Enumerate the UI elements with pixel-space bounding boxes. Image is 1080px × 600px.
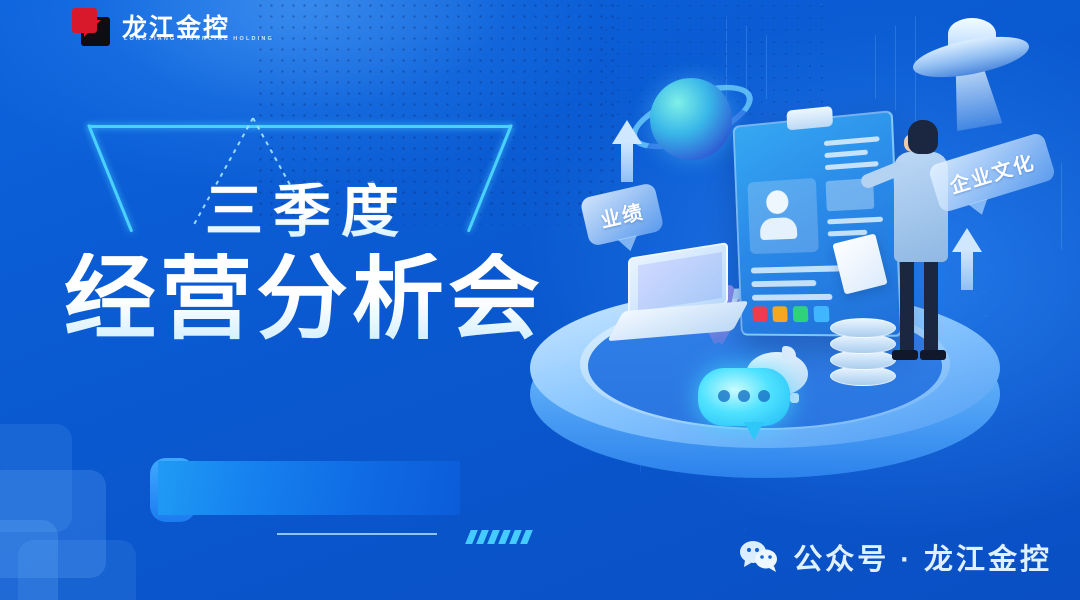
illustration: 业绩 企业文化	[500, 0, 1080, 600]
screen-clip	[786, 106, 832, 130]
chat-dot	[758, 390, 770, 402]
status-chip	[793, 306, 809, 322]
logo-name-en: LONGJIANG FINANCIAL HOLDING	[124, 36, 274, 42]
content-bar	[824, 150, 868, 159]
arrow-head	[612, 120, 642, 144]
avatar-body	[760, 217, 798, 240]
avatar	[766, 190, 789, 215]
banner-stage: 三季度 经营分析会 龙江金控 LONGJIANG FINANCIAL HOLDI…	[0, 0, 1080, 600]
status-chip	[813, 306, 829, 322]
status-chip	[772, 306, 787, 322]
chat-dot	[718, 390, 730, 402]
content-bar	[825, 161, 879, 170]
arrow-up-icon	[612, 120, 642, 182]
content-bar	[752, 294, 833, 301]
person-icon	[878, 120, 970, 360]
arrow-shaft	[621, 142, 633, 182]
person-shoe	[920, 350, 946, 360]
content-bar	[828, 230, 868, 237]
logo-triangle	[84, 20, 101, 37]
content-bar	[751, 280, 816, 287]
chat-tail	[744, 422, 764, 440]
laptop-icon	[618, 250, 738, 342]
person-leg	[900, 258, 914, 356]
logo-underline	[277, 533, 437, 535]
content-bar	[824, 136, 880, 146]
title-line-1: 三季度	[205, 183, 409, 241]
chat-dot	[738, 390, 750, 402]
title-line-2: 经营分析会	[64, 253, 544, 345]
status-chip	[752, 306, 767, 322]
profile-card	[747, 178, 819, 254]
bubble-tail	[968, 198, 991, 217]
logo-badge	[158, 461, 460, 515]
bubble-label-text: 企业文化	[947, 152, 1038, 199]
ufo-icon	[912, 18, 1030, 90]
bubble-label-text: 业绩	[599, 201, 647, 232]
frame-line-left	[87, 124, 133, 233]
person-shoe	[892, 350, 918, 360]
piggy-leg	[790, 393, 799, 403]
content-bar	[751, 265, 841, 273]
person-leg	[924, 258, 938, 356]
chat-bubble-icon	[698, 368, 790, 426]
decorative-square	[0, 520, 58, 600]
bubble-label-performance: 业绩	[579, 182, 664, 247]
planet-icon	[650, 78, 732, 160]
logo-mark-icon	[72, 8, 110, 46]
laptop-screen	[638, 252, 722, 311]
person-head	[908, 120, 938, 154]
content-bar	[827, 217, 883, 225]
